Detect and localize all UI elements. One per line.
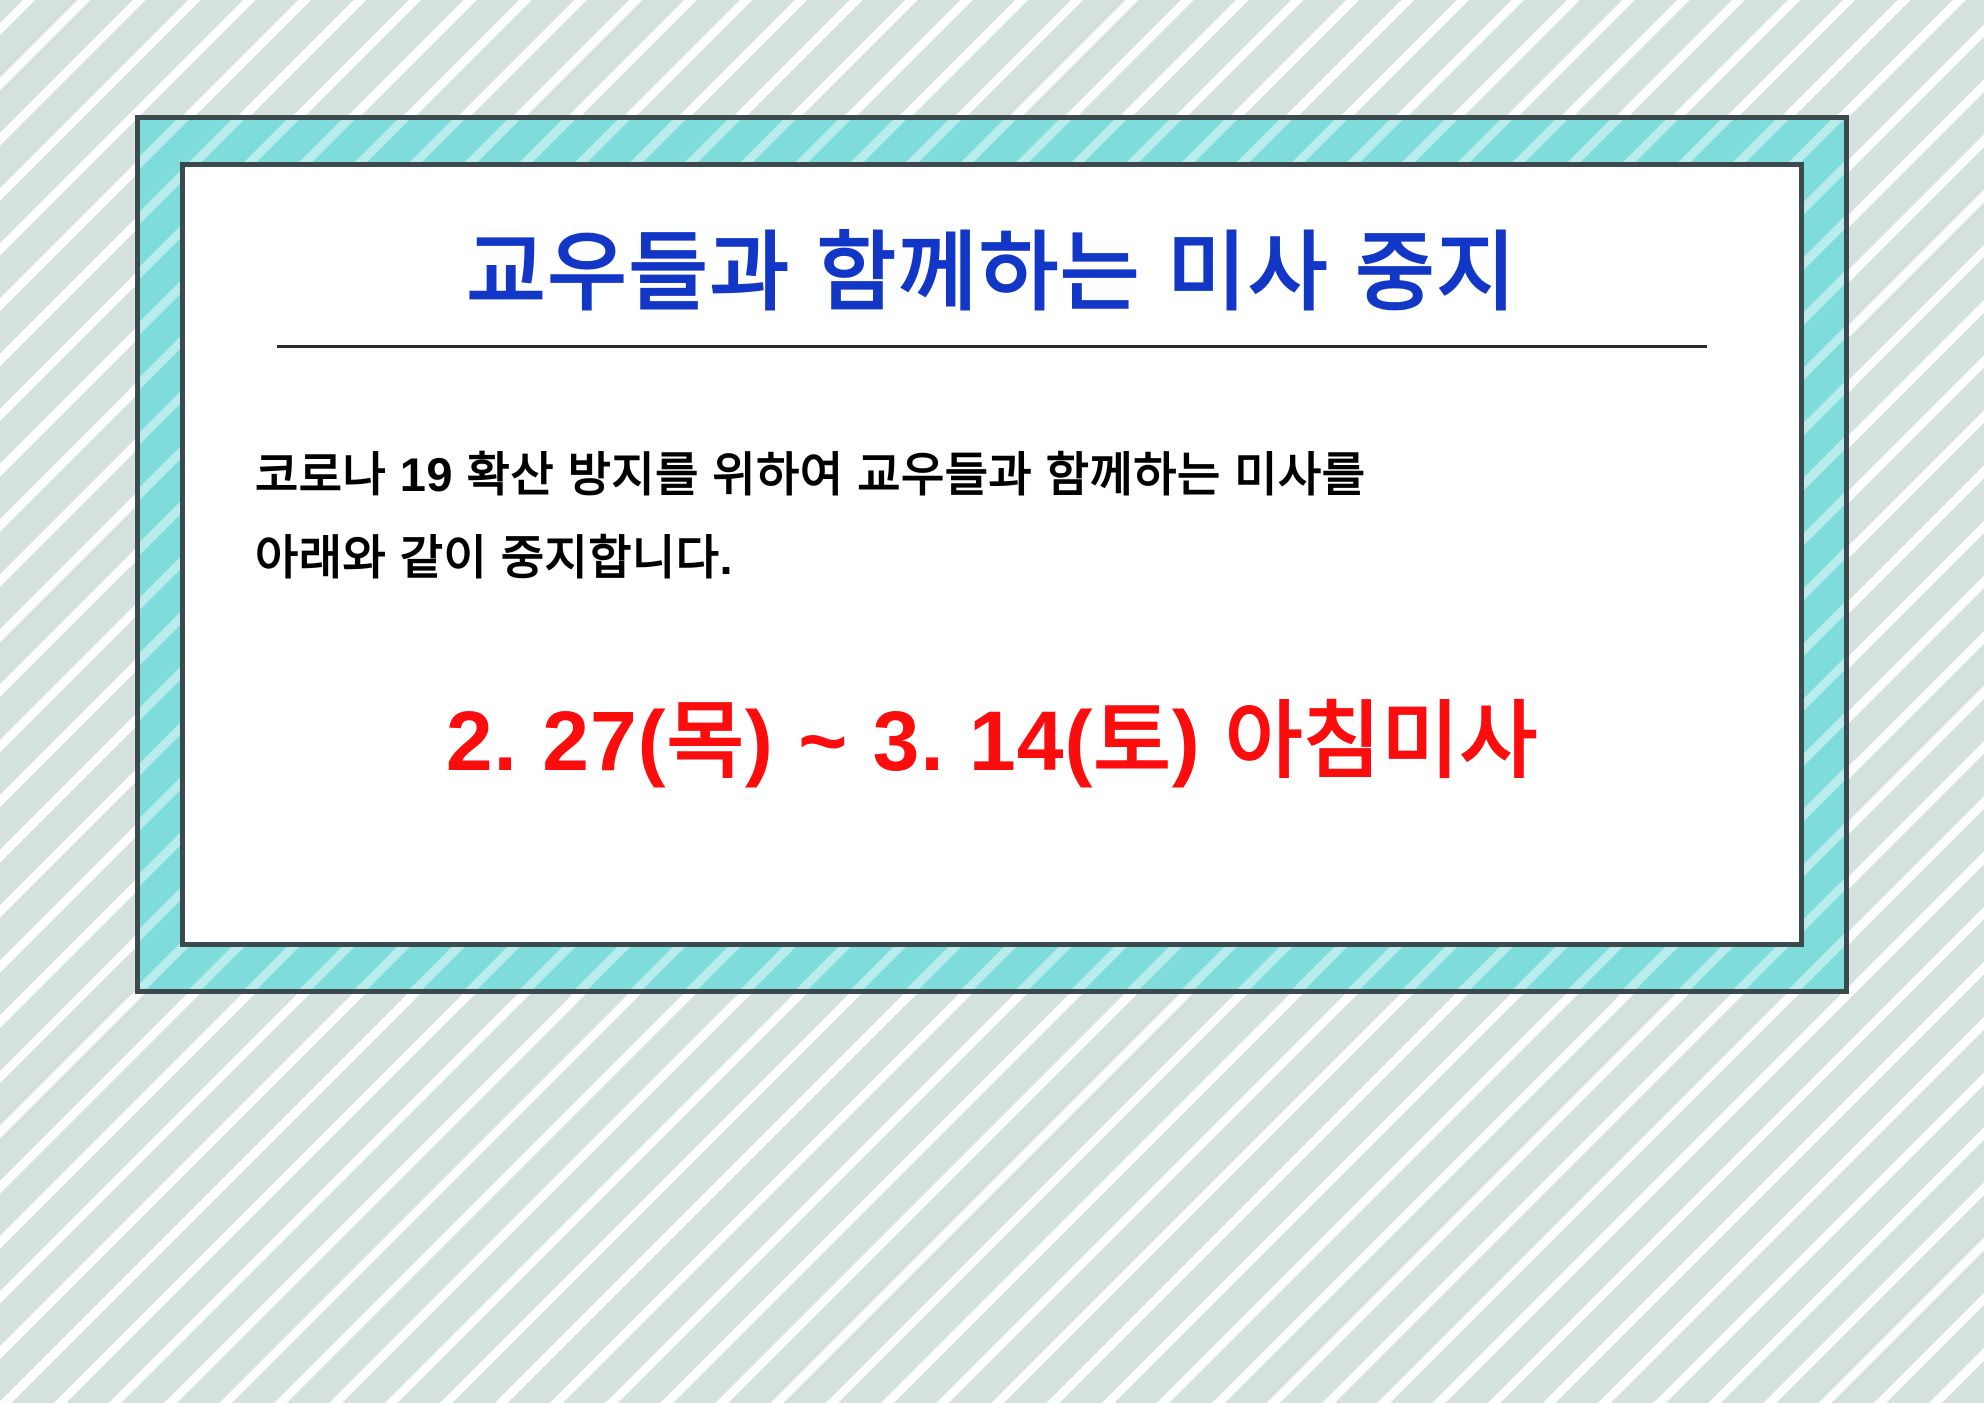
poster-background: 교우들과 함께하는 미사 중지 코로나 19 확산 방지를 위하여 교우들과 함… [0, 0, 1984, 1403]
poster-body-text: 코로나 19 확산 방지를 위하여 교우들과 함께하는 미사를 아래와 같이 중… [255, 434, 1729, 599]
poster-schedule-text: 2. 27(목) ~ 3. 14(토) 아침미사 [255, 691, 1729, 792]
body-line-2: 아래와 같이 중지합니다. [255, 517, 1729, 599]
title-divider [277, 345, 1707, 348]
poster-inner-card: 교우들과 함께하는 미사 중지 코로나 19 확산 방지를 위하여 교우들과 함… [180, 162, 1804, 947]
poster-title: 교우들과 함께하는 미사 중지 [255, 225, 1729, 321]
body-line-1: 코로나 19 확산 방지를 위하여 교우들과 함께하는 미사를 [255, 434, 1729, 516]
poster-outer-frame: 교우들과 함께하는 미사 중지 코로나 19 확산 방지를 위하여 교우들과 함… [135, 115, 1849, 994]
poster-content: 교우들과 함께하는 미사 중지 코로나 19 확산 방지를 위하여 교우들과 함… [185, 167, 1799, 942]
